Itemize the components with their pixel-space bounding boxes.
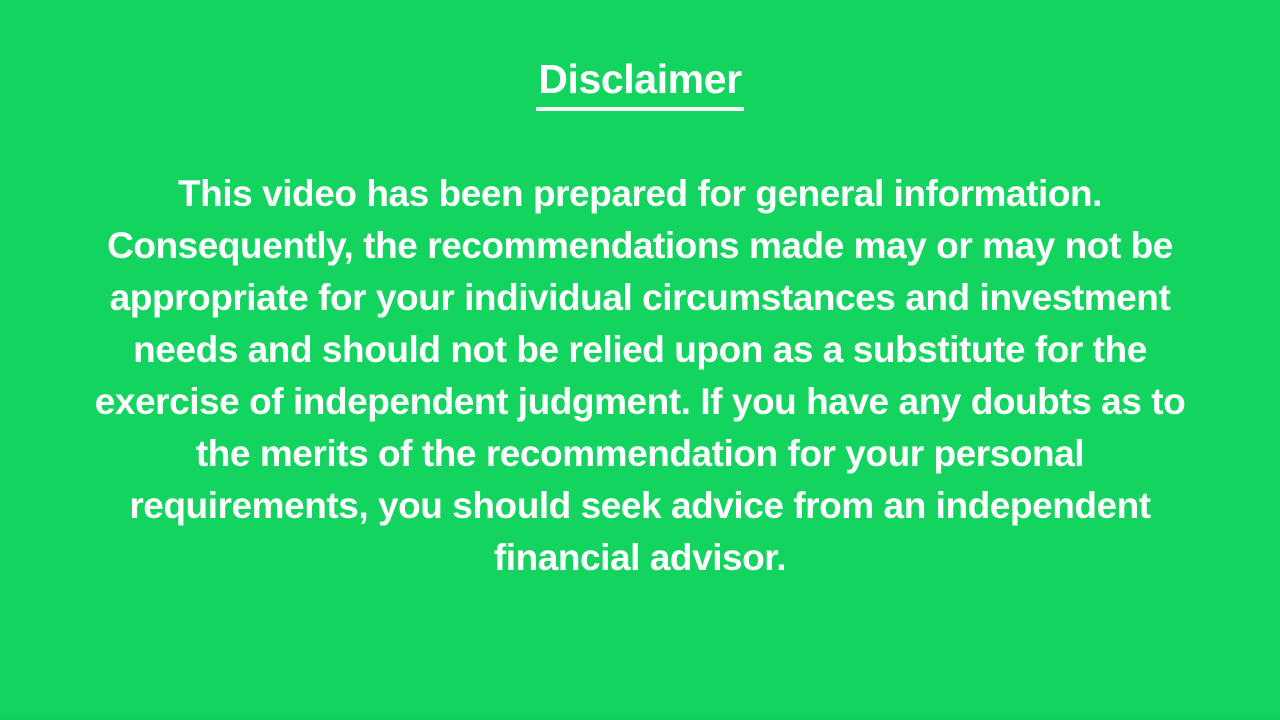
body-line: needs and should not be relied upon as a… bbox=[32, 324, 1248, 376]
body-line: This video has been prepared for general… bbox=[32, 168, 1248, 220]
body-line: appropriate for your individual circumst… bbox=[32, 272, 1248, 324]
title-block: Disclaimer bbox=[0, 58, 1280, 111]
body-line: Consequently, the recommendations made m… bbox=[32, 220, 1248, 272]
body-line: the merits of the recommendation for you… bbox=[32, 428, 1248, 480]
page-title: Disclaimer bbox=[536, 58, 743, 111]
body-line: requirements, you should seek advice fro… bbox=[32, 480, 1248, 532]
disclaimer-slide: Disclaimer This video has been prepared … bbox=[0, 0, 1280, 720]
body-line: financial advisor. bbox=[32, 532, 1248, 584]
bottom-edge-band bbox=[0, 714, 1280, 720]
body-line: exercise of independent judgment. If you… bbox=[32, 376, 1248, 428]
disclaimer-body: This video has been prepared for general… bbox=[32, 168, 1248, 584]
